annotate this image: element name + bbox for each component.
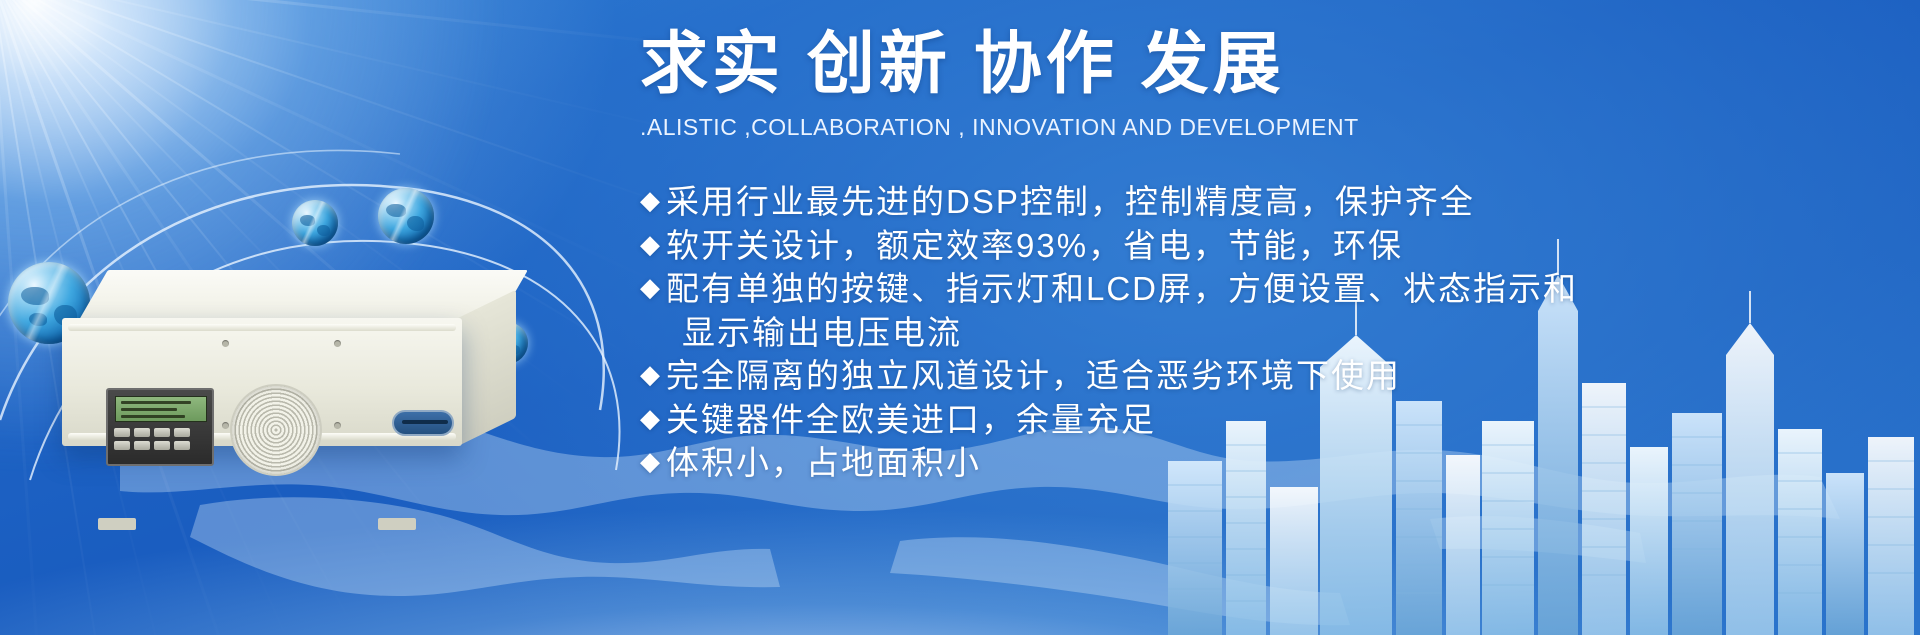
feature-list-item: ◆体积小，占地面积小 bbox=[640, 441, 1820, 485]
diamond-bullet-icon: ◆ bbox=[640, 398, 666, 440]
banner-content: 求实 创新 协作 发展 .ALISTIC ,COLLABORATION , IN… bbox=[0, 0, 1920, 635]
feature-list-item-label: 显示输出电压电流 bbox=[666, 311, 962, 355]
feature-list-item: ◆软开关设计，额定效率93%，省电，节能，环保 bbox=[640, 224, 1820, 268]
diamond-bullet-icon: ◆ bbox=[640, 267, 666, 309]
feature-list-item-label: 采用行业最先进的DSP控制，控制精度高，保护齐全 bbox=[666, 180, 1475, 224]
feature-list-item: ◆配有单独的按键、指示灯和LCD屏，方便设置、状态指示和 bbox=[640, 267, 1820, 311]
feature-list-item-label: 完全隔离的独立风道设计，适合恶劣环境下使用 bbox=[666, 354, 1401, 398]
page-title: 求实 创新 协作 发展 bbox=[640, 30, 1285, 98]
feature-list-item-label: 软开关设计，额定效率93%，省电，节能，环保 bbox=[666, 224, 1403, 268]
diamond-bullet-icon: ◆ bbox=[640, 180, 666, 222]
feature-list-item: ◆显示输出电压电流 bbox=[640, 311, 1820, 355]
feature-list-item: ◆关键器件全欧美进口，余量充足 bbox=[640, 398, 1820, 442]
feature-list-item-label: 配有单独的按键、指示灯和LCD屏，方便设置、状态指示和 bbox=[666, 267, 1578, 311]
feature-list-item: ◆完全隔离的独立风道设计，适合恶劣环境下使用 bbox=[640, 354, 1820, 398]
diamond-bullet-icon: ◆ bbox=[640, 224, 666, 266]
promo-banner: 求实 创新 协作 发展 .ALISTIC ,COLLABORATION , IN… bbox=[0, 0, 1920, 635]
page-subtitle: .ALISTIC ,COLLABORATION , INNOVATION AND… bbox=[640, 114, 1359, 141]
feature-list-item-label: 关键器件全欧美进口，余量充足 bbox=[666, 398, 1156, 442]
diamond-bullet-icon: ◆ bbox=[640, 354, 666, 396]
diamond-bullet-icon: ◆ bbox=[640, 441, 666, 483]
feature-list-item-label: 体积小，占地面积小 bbox=[666, 441, 981, 485]
feature-list-item: ◆采用行业最先进的DSP控制，控制精度高，保护齐全 bbox=[640, 180, 1820, 224]
feature-list: ◆采用行业最先进的DSP控制，控制精度高，保护齐全◆软开关设计，额定效率93%，… bbox=[640, 180, 1820, 485]
